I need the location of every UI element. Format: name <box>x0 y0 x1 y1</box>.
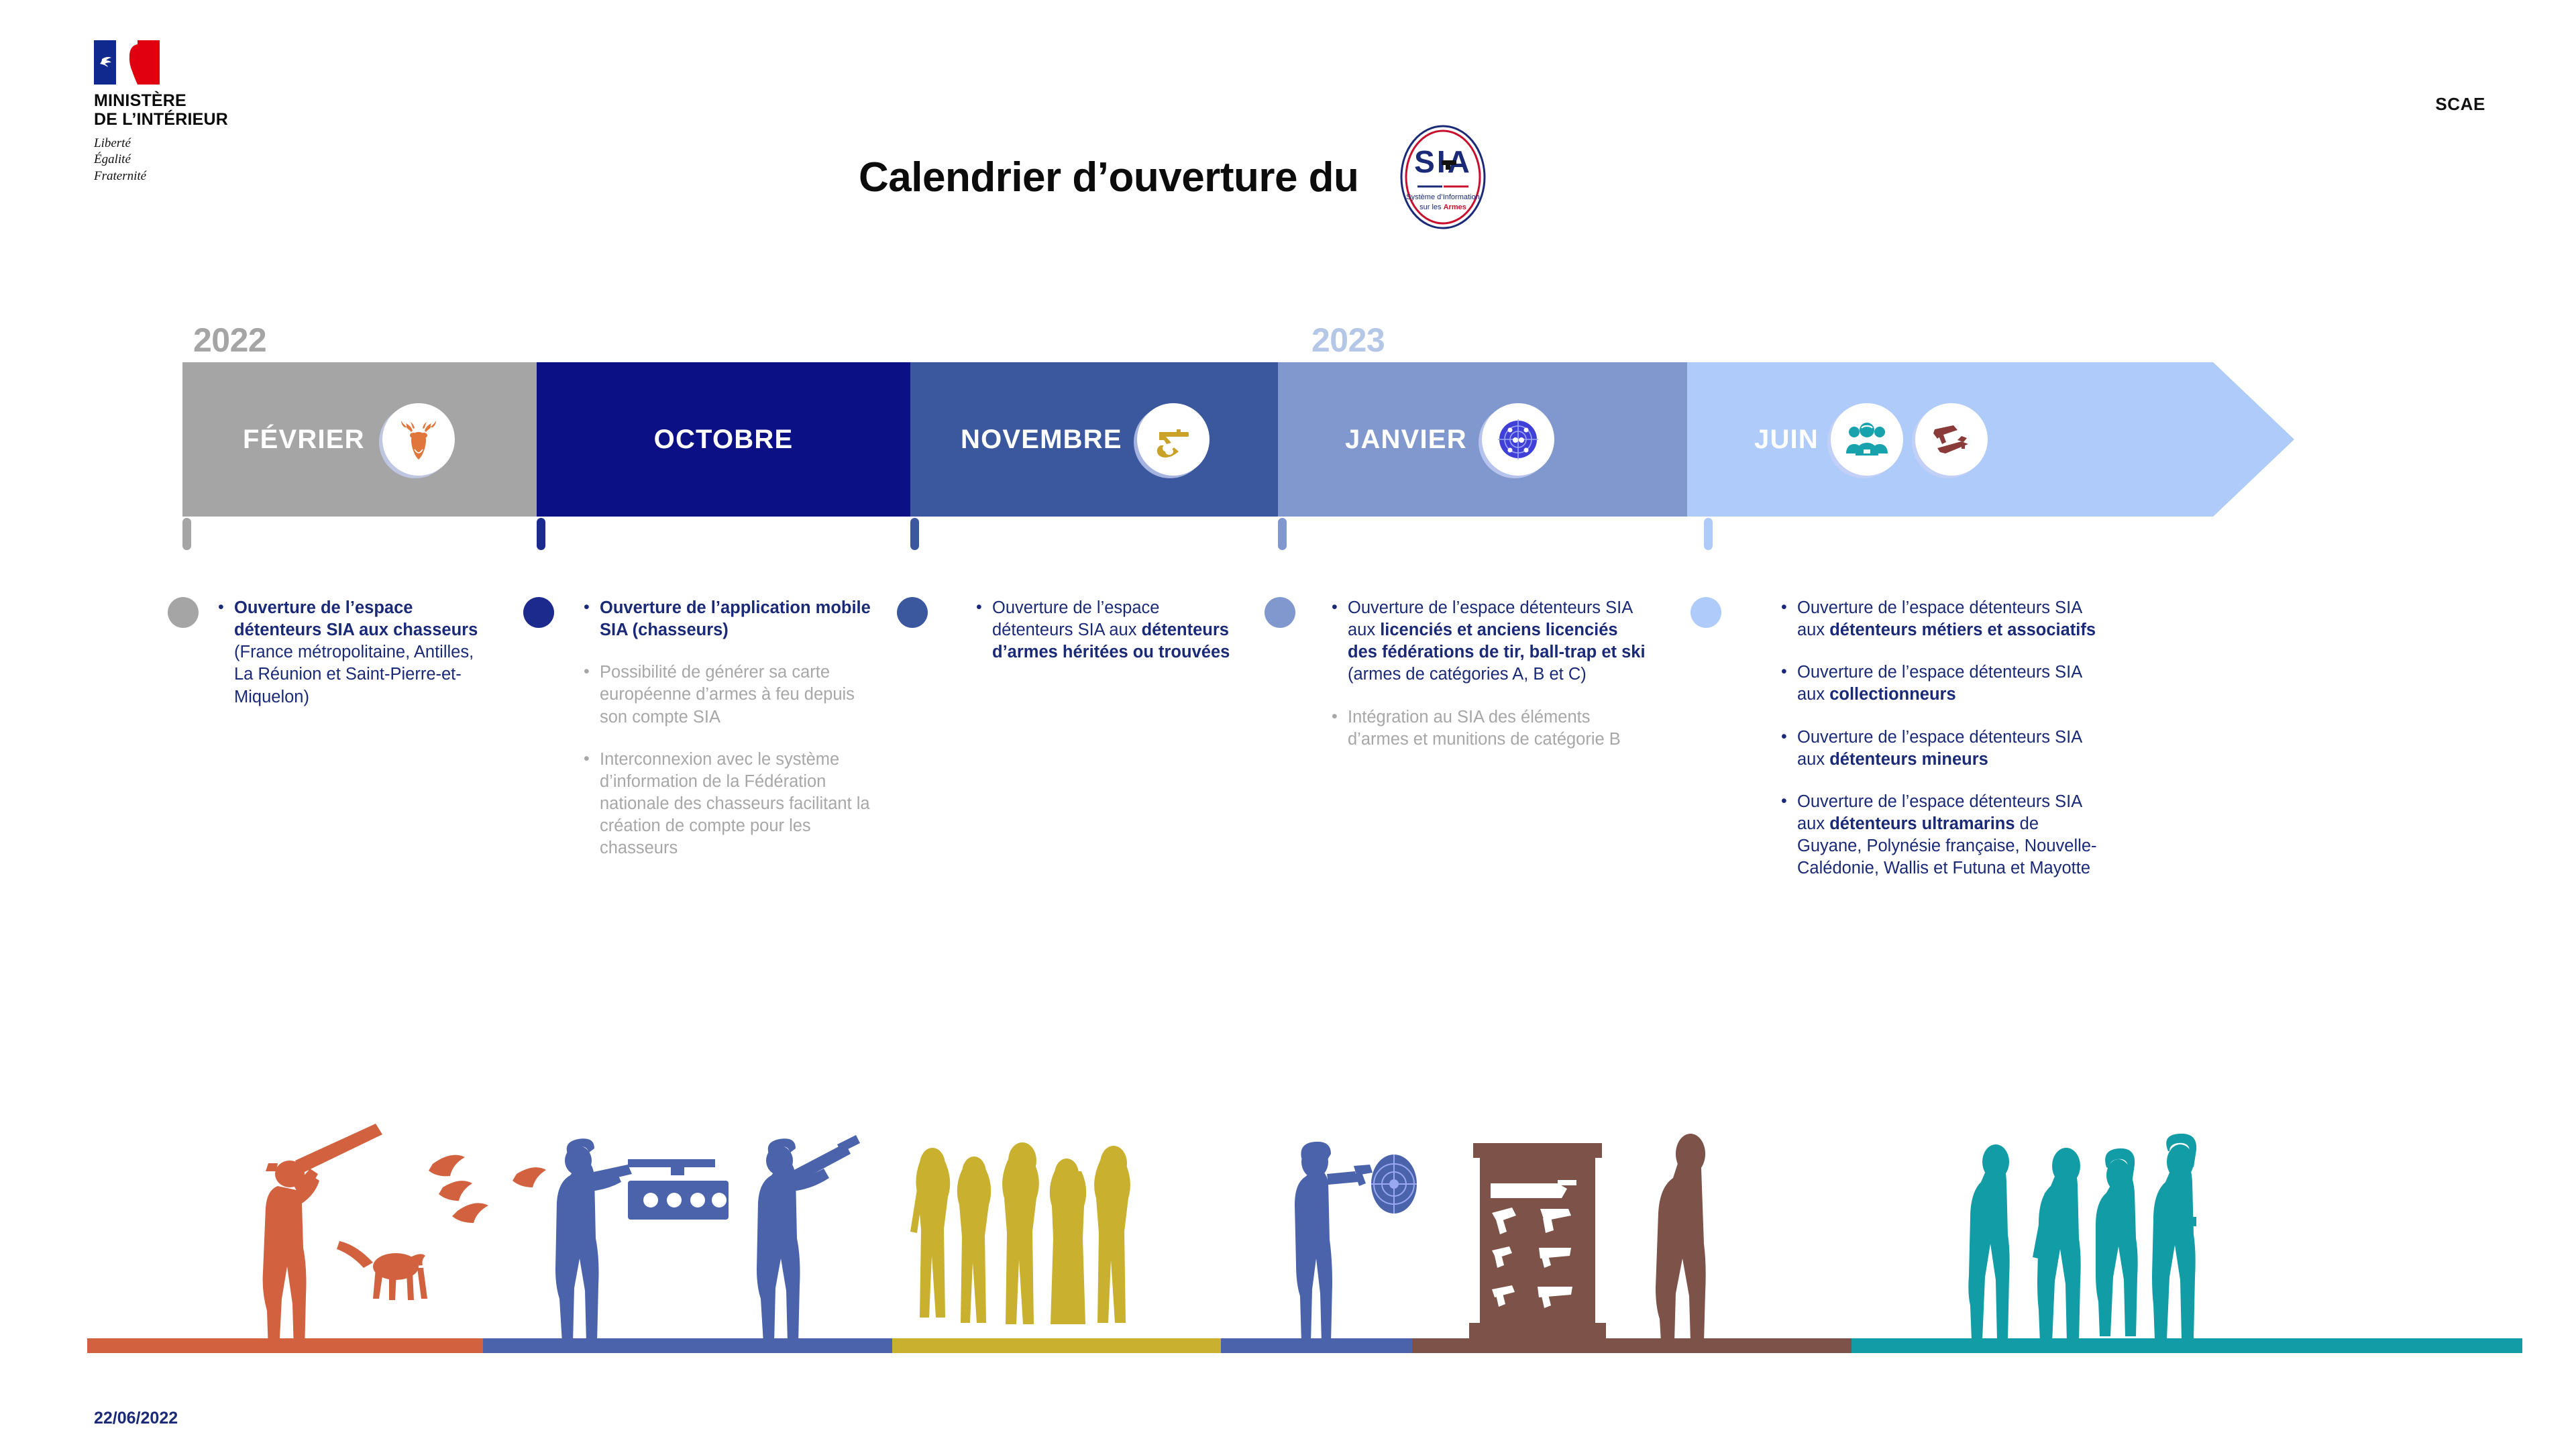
sia-logo-icon: SIA Système d’Information sur les Armes <box>1376 124 1510 230</box>
hunter-with-dog-and-birds <box>263 1124 546 1351</box>
target-icon <box>1482 403 1554 476</box>
milestone-item: Ouverture de l’espace détenteurs SIA aux… <box>1332 597 1650 686</box>
ministry-logo: MINISTÈRE DE L’INTÉRIEUR Liberté Égalité… <box>94 40 295 184</box>
footer-date: 22/06/2022 <box>94 1409 178 1428</box>
ministry-name: MINISTÈRE DE L’INTÉRIEUR <box>94 91 295 129</box>
milestone-column-juin: Ouverture de l’espace détenteurs SIA aux… <box>1781 597 2100 900</box>
professionals-band <box>1851 1338 2522 1353</box>
milestone-item: Interconnexion avec le système d’informa… <box>584 749 885 860</box>
milestone-item: Ouverture de l’espace détenteurs SIA aux… <box>1781 661 2100 706</box>
timeline-segment-label-janvier: JANVIER <box>1345 425 1467 455</box>
ministry-name-line2: DE L’INTÉRIEUR <box>94 110 295 129</box>
milestone-item: Ouverture de l’espace détenteurs SIA aux… <box>1781 597 2100 641</box>
rifle-hand-icon <box>1137 403 1210 476</box>
milestone-dot-octobre <box>523 597 554 628</box>
milestone-dot-fevrier <box>168 597 199 628</box>
ministry-name-line1: MINISTÈRE <box>94 91 295 110</box>
french-flag-marianne-icon <box>94 40 160 85</box>
timeline-segment-fevrier[interactable]: FÉVRIER <box>182 362 597 517</box>
timeline-segment-juin[interactable]: JUIN <box>1620 362 2294 517</box>
title-block: Calendrier d’ouverture du SIA Système d’… <box>859 124 1510 230</box>
timeline-tick-novembre <box>910 518 919 550</box>
svg-text:Système d’Information: Système d’Information <box>1407 193 1480 201</box>
timeline-tick-janvier <box>1278 518 1287 550</box>
milestone-dot-janvier <box>1265 597 1295 628</box>
guns-pair-icon <box>1915 403 1988 476</box>
bottom-illustration <box>0 1087 2576 1375</box>
pistol-shooter-with-target <box>1295 1142 1417 1343</box>
gun-cabinet-and-armourer <box>1469 1134 1706 1342</box>
motto-fraternite: Fraternité <box>94 168 295 184</box>
motto-egalite: Égalité <box>94 152 295 168</box>
milestone-column-fevrier: Ouverture de l’espace détenteurs SIA aux… <box>218 597 496 729</box>
svg-text:sur les Armes: sur les Armes <box>1420 203 1467 211</box>
timeline-segment-label-juin: JUIN <box>1754 425 1819 455</box>
year-label-2022: 2022 <box>193 321 266 360</box>
timeline-segment-label-novembre: NOVEMBRE <box>961 425 1122 455</box>
timeline: 2022 2023 FÉVRIER OCTOBRE NOVEMBRE <box>0 282 2576 563</box>
armourer-band <box>1412 1338 1851 1353</box>
milestone-column-octobre: Ouverture de l’application mobile SIA (c… <box>584 597 885 879</box>
group-of-four-professionals <box>1968 1134 2196 1343</box>
year-label-2023: 2023 <box>1311 321 1385 360</box>
milestone-item: Ouverture de l’application mobile SIA (c… <box>584 597 885 641</box>
sport-shooter-band <box>483 1338 892 1353</box>
rifle-shooter-at-range <box>555 1135 860 1343</box>
republic-motto: Liberté Égalité Fraternité <box>94 136 295 184</box>
timeline-tick-juin <box>1704 518 1713 550</box>
timeline-segment-label-octobre: OCTOBRE <box>654 425 794 455</box>
hunter-band <box>87 1338 483 1353</box>
timeline-segment-label-fevrier: FÉVRIER <box>243 425 365 455</box>
milestone-column-novembre: Ouverture de l’espace détenteurs SIA aux… <box>976 597 1231 684</box>
timeline-segment-novembre[interactable]: NOVEMBRE <box>910 362 1328 517</box>
timeline-tick-fevrier <box>182 518 191 550</box>
page-title: Calendrier d’ouverture du <box>859 154 1358 201</box>
timeline-tick-octobre <box>537 518 545 550</box>
milestone-dot-juin <box>1690 597 1721 628</box>
motto-liberte: Liberté <box>94 136 295 152</box>
people-group-icon <box>1831 403 1903 476</box>
pistol-shooter-band <box>1221 1338 1412 1353</box>
milestone-item: Possibilité de générer sa carte européen… <box>584 661 885 728</box>
milestone-item: Ouverture de l’espace détenteurs SIA aux… <box>1781 791 2100 880</box>
milestone-item: Ouverture de l’espace détenteurs SIA aux… <box>976 597 1231 663</box>
milestone-item: Ouverture de l’espace détenteurs SIA aux… <box>1781 727 2100 771</box>
crowd-band <box>892 1338 1221 1353</box>
milestone-item: Ouverture de l’espace détenteurs SIA aux… <box>218 597 496 708</box>
milestone-column-janvier: Ouverture de l’espace détenteurs SIA aux… <box>1332 597 1650 771</box>
group-of-five-people <box>910 1142 1130 1324</box>
org-code-label: SCAE <box>2435 94 2485 115</box>
timeline-segment-octobre[interactable]: OCTOBRE <box>537 362 910 517</box>
milestone-item: Intégration au SIA des éléments d’armes … <box>1332 706 1650 751</box>
milestone-dot-novembre <box>897 597 928 628</box>
deer-head-icon <box>382 403 455 476</box>
